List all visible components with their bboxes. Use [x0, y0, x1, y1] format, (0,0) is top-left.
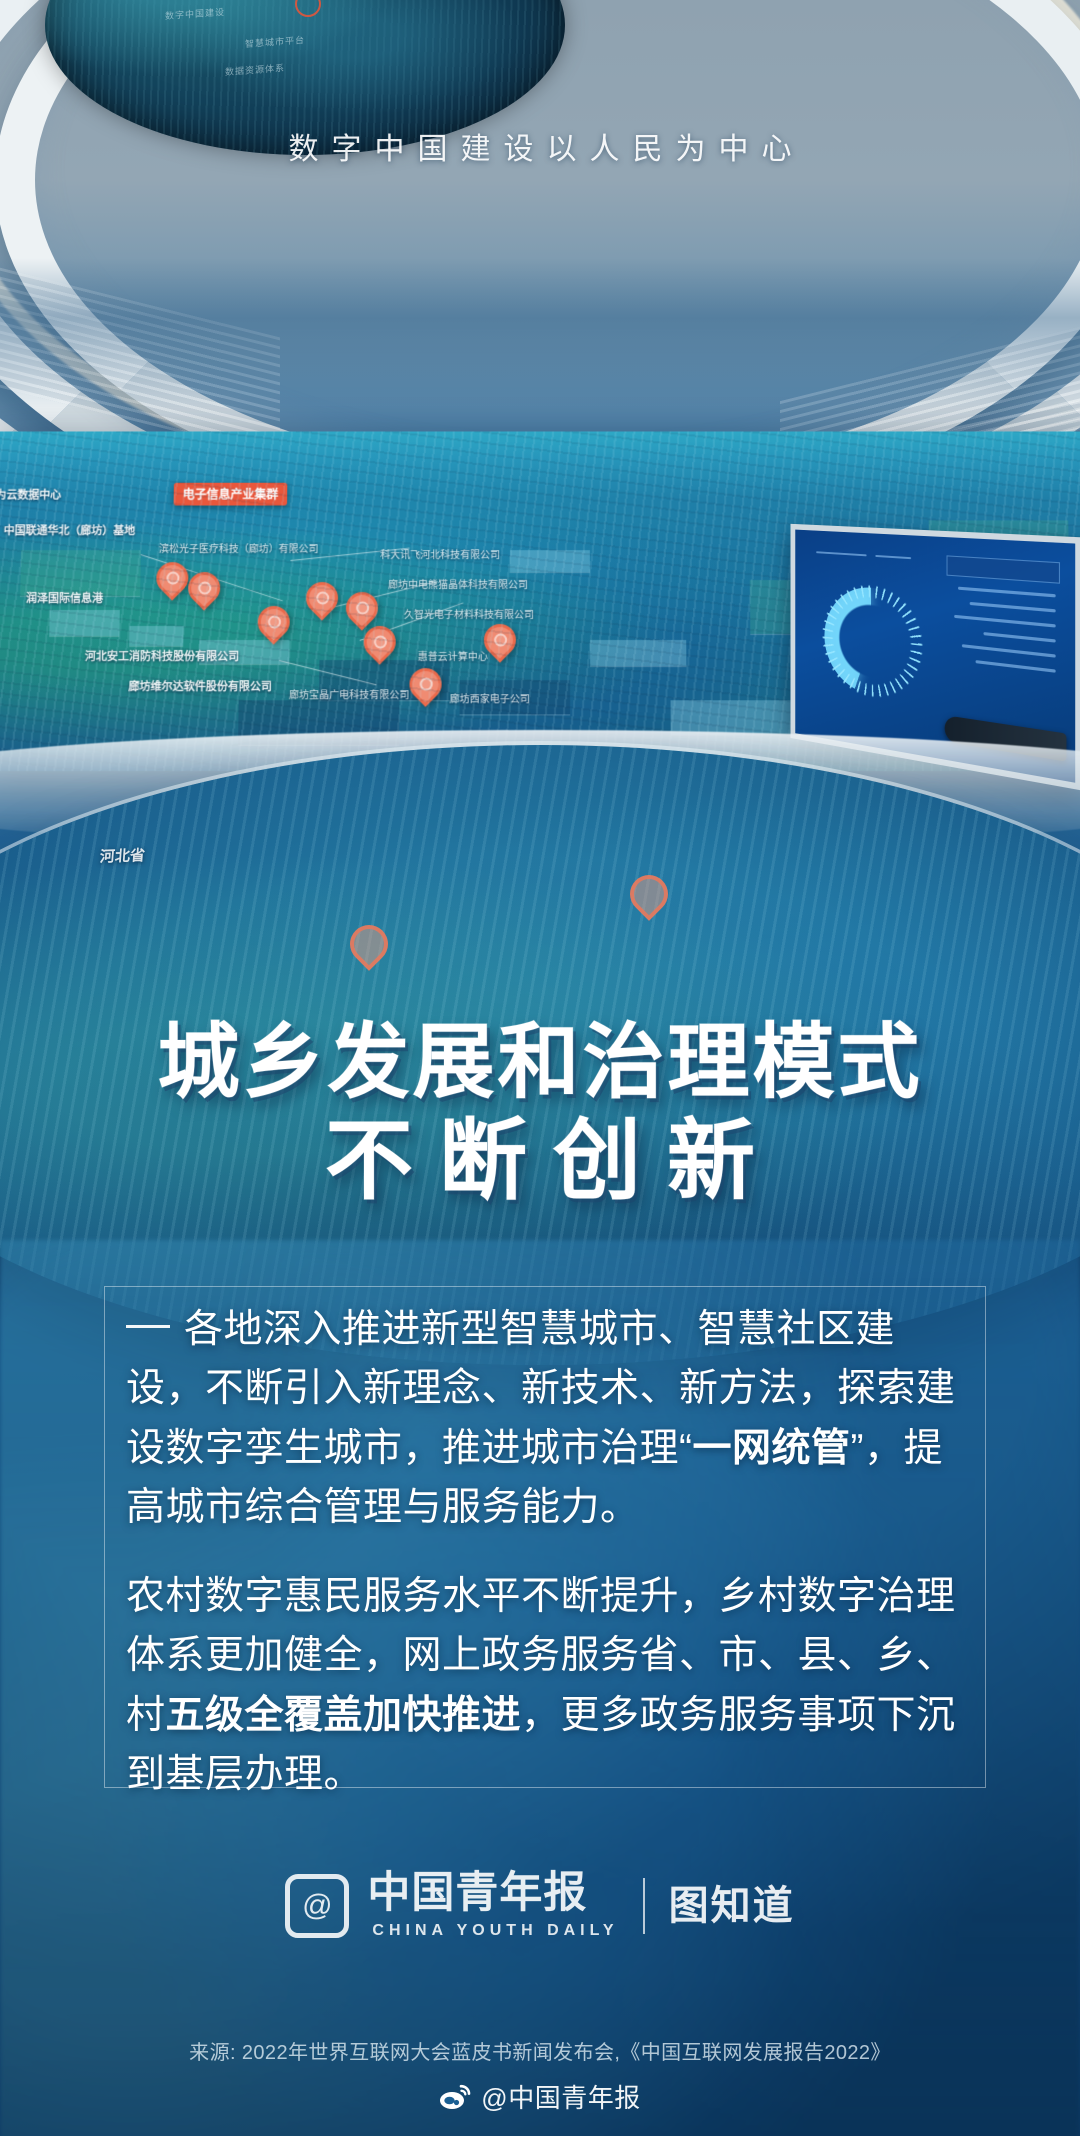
leading-dash — [126, 1325, 170, 1328]
paragraph-1-emphasis: 一网统管 — [693, 1427, 851, 1470]
wall-label-0: 华为云数据中心 — [0, 487, 61, 503]
ceiling-screen-label-2: 数据资源体系 — [225, 61, 285, 78]
stage-map-pin — [622, 867, 676, 921]
wall-label-7: 廊坊中电熊猫晶体科技有限公司 — [388, 576, 528, 591]
map-pin — [346, 592, 372, 626]
logo-english-name: CHINA YOUTH DAILY — [367, 1922, 618, 1940]
wall-label-8: 久智光电子材料科技有限公司 — [404, 606, 534, 621]
ceiling-screen-label-1: 智慧城市平台 — [245, 33, 305, 50]
headline: 城乡发展和治理模式 不断创新 — [0, 1020, 1080, 1207]
page-title: 数字中国建设以人民为中心 — [0, 124, 1080, 168]
poster-root: 数字中国建设 智慧城市平台 数据资源体系 数字中国建设以人民为中心 电子信息产业… — [0, 0, 1080, 2136]
at-symbol-icon: @ — [285, 1874, 349, 1938]
map-pin — [409, 668, 435, 702]
logo-series-name: 图知道 — [669, 1886, 795, 1926]
body-text-container: 各地深入推进新型智慧城市、智慧社区建设，不断引入新理念、新技术、新方法，探索建设… — [104, 1300, 984, 1834]
map-pin — [257, 606, 283, 640]
weibo-icon — [439, 2084, 471, 2110]
logo-text-block: 中国青年报 CHINA YOUTH DAILY — [367, 1872, 618, 1940]
paragraph-1: 各地深入推进新型智慧城市、智慧社区建设，不断引入新理念、新技术、新方法，探索建设… — [126, 1300, 960, 1537]
map-pin — [188, 572, 214, 606]
wall-label-11: 廊坊西家电子公司 — [450, 690, 530, 705]
wall-label-9: 惠普云计算中心 — [418, 648, 488, 663]
weibo-handle: @中国青年报 — [481, 2078, 640, 2115]
paragraph-2: 农村数字惠民服务水平不断提升，乡村数字治理体系更加健全，网上政务服务省、市、县、… — [126, 1567, 960, 1804]
wall-tag-industry-cluster: 电子信息产业集群 — [174, 483, 288, 506]
publisher-logo: @ 中国青年报 CHINA YOUTH DAILY 图知道 — [0, 1872, 1080, 1940]
headline-line-1: 城乡发展和治理模式 — [0, 1020, 1080, 1105]
wall-label-4: 廊坊维尔达软件股份有限公司 — [128, 678, 272, 694]
paragraph-2-emphasis: 五级全覆盖加快推进 — [166, 1694, 522, 1737]
wall-label-10: 廊坊宝晶广电科技有限公司 — [289, 686, 410, 701]
gauge-ticks — [819, 578, 925, 709]
stage-label-province: 河北省 — [99, 844, 146, 867]
ceiling-screen-label-0: 数字中国建设 — [165, 5, 225, 22]
wall-label-5: 滨松光子医疗科技（廊坊）有限公司 — [159, 540, 319, 555]
source-credit: 来源: 2022年世界互联网大会蓝皮书新闻发布会,《中国互联网发展报告2022》 — [0, 2036, 1080, 2065]
map-pin — [484, 624, 510, 658]
stage-map-pin — [342, 917, 396, 971]
wall-label-6: 科大讯飞河北科技有限公司 — [380, 546, 500, 561]
logo-chinese-name: 中国青年报 — [367, 1872, 618, 1915]
headline-line-2: 不断创新 — [0, 1115, 1080, 1207]
weibo-attribution: @中国青年报 — [0, 2078, 1080, 2115]
wall-label-2: 润泽国际信息港 — [26, 590, 103, 606]
wall-label-3: 河北安工消防科技股份有限公司 — [85, 648, 240, 664]
map-pin — [364, 626, 390, 660]
map-pin — [306, 582, 332, 616]
wall-label-1: 中国联通华北（廊坊）基地 — [3, 522, 135, 538]
logo-divider — [643, 1878, 645, 1934]
map-pin — [156, 562, 183, 596]
